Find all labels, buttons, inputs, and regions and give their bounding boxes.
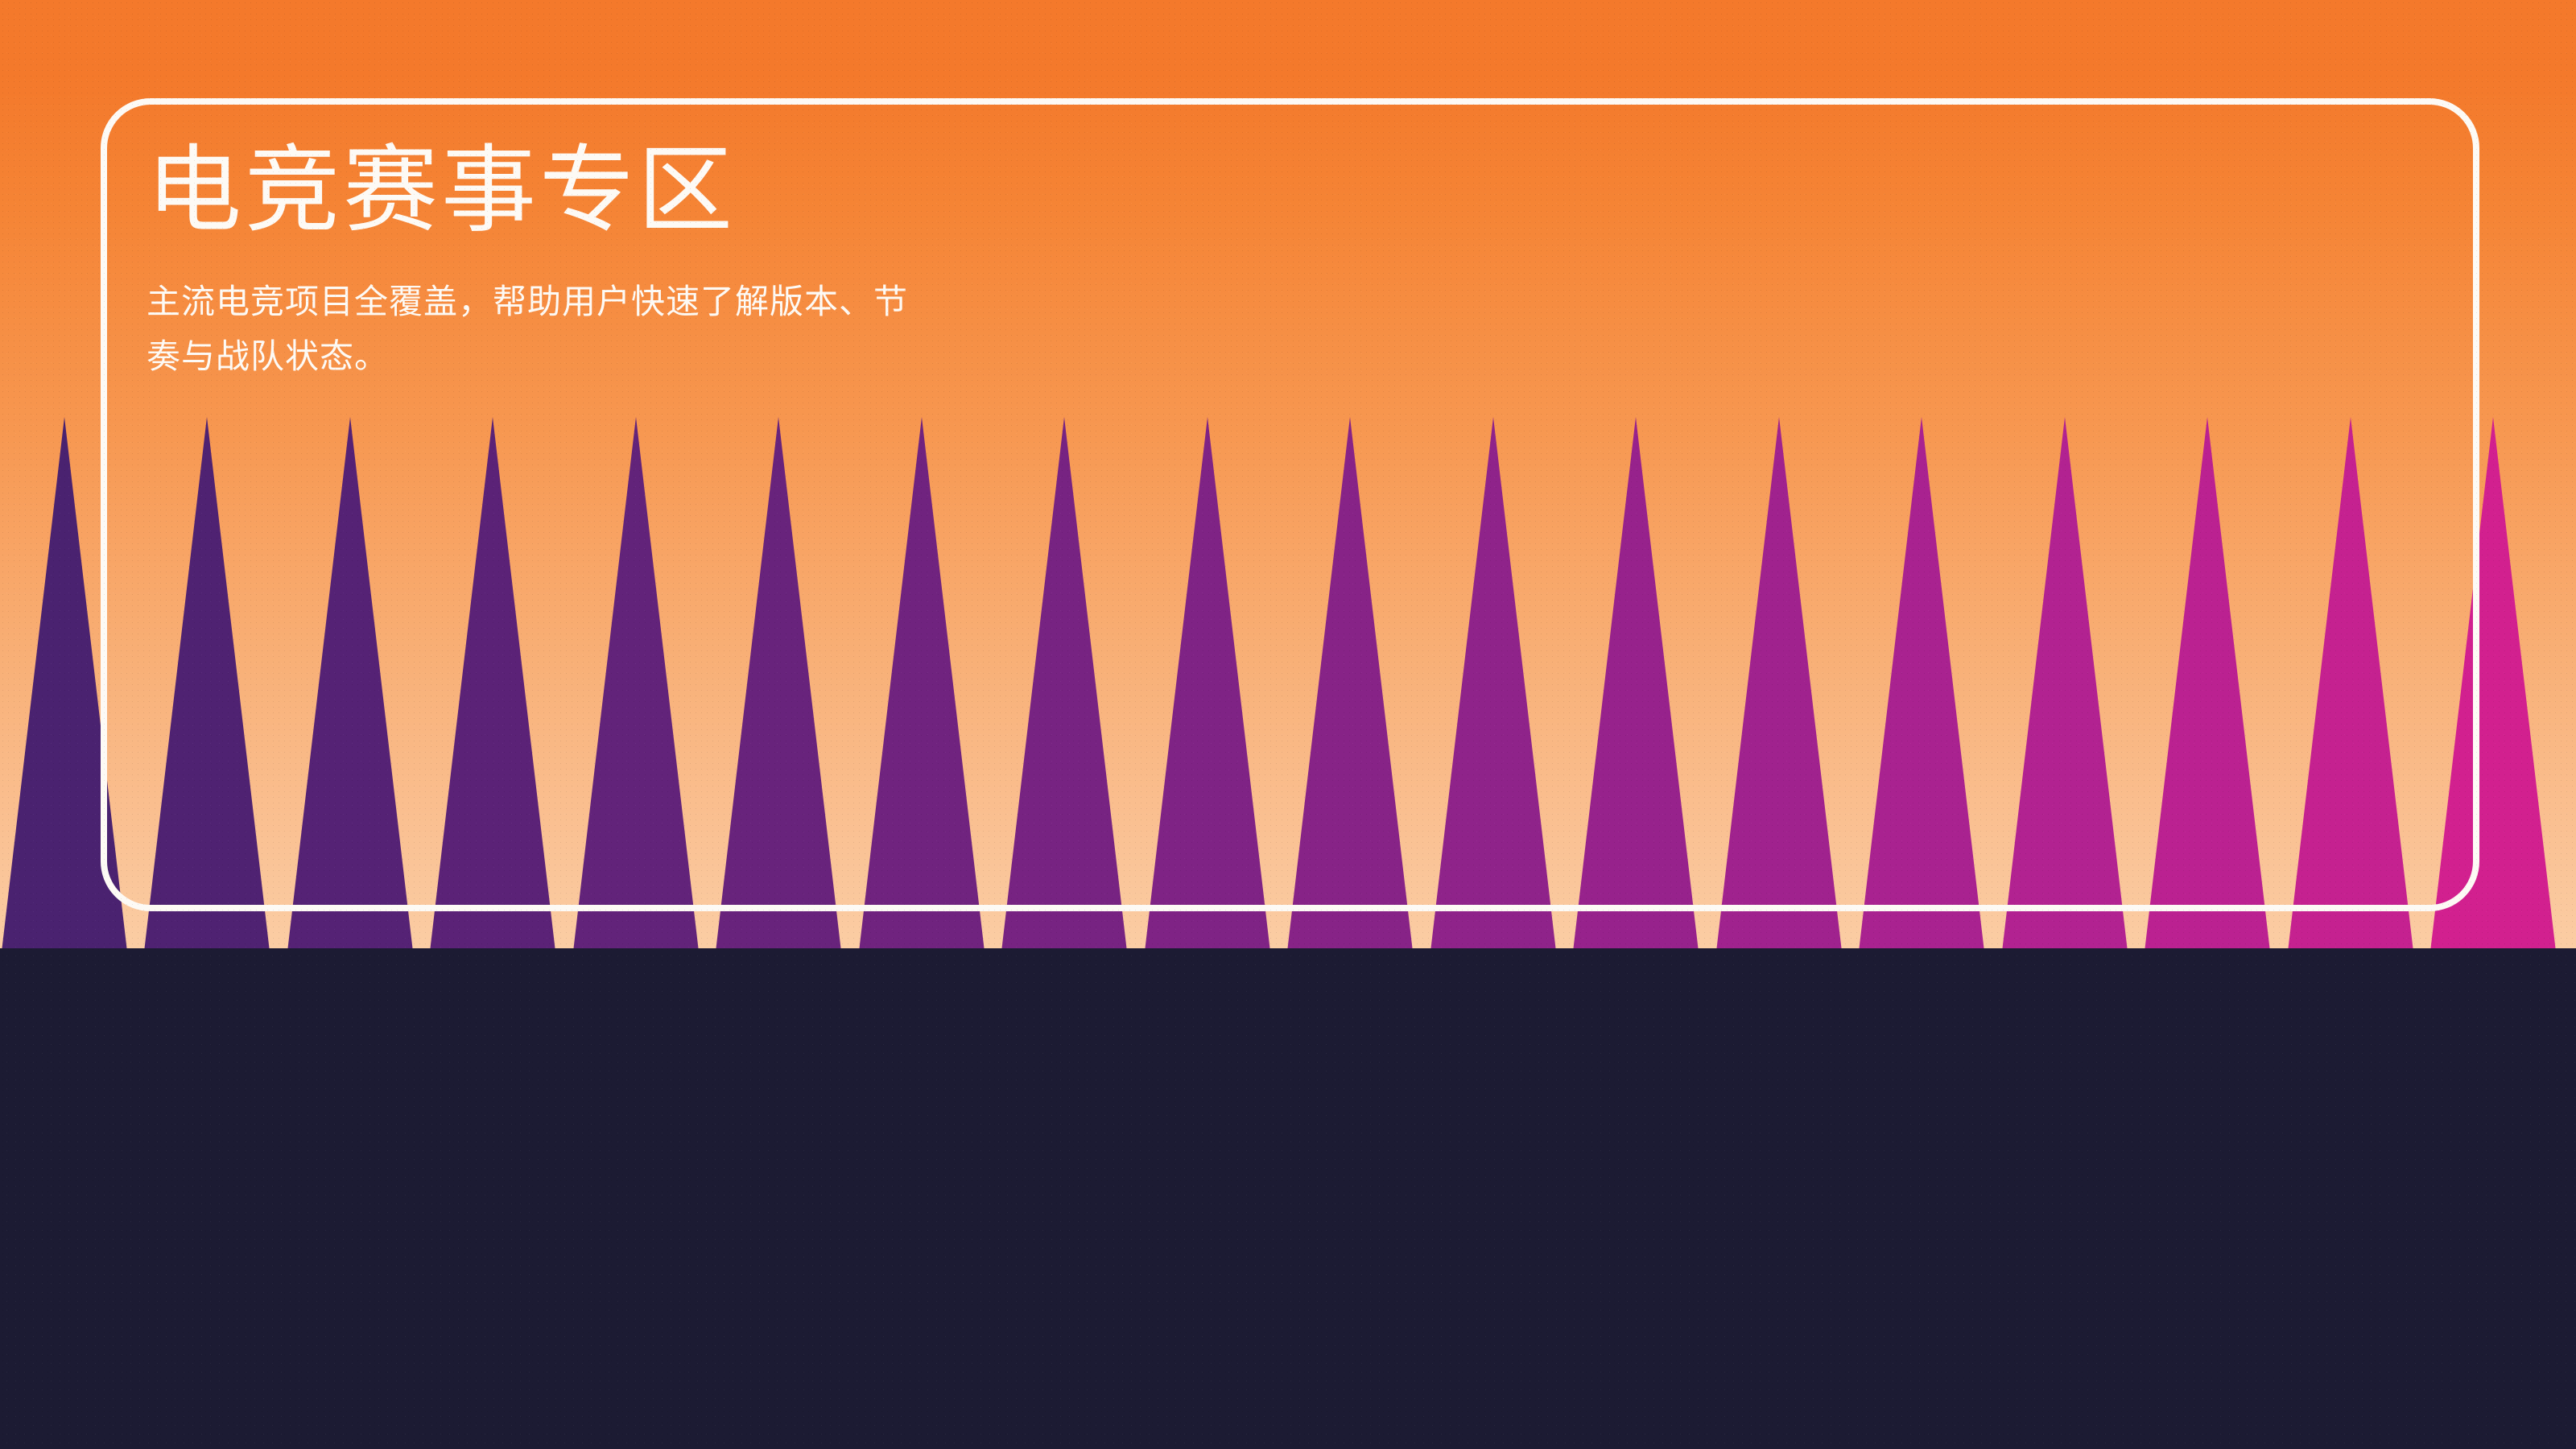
ground-band xyxy=(0,948,2576,1449)
page-subtitle-line: 奏与战队状态。 xyxy=(147,337,389,375)
spike-2 xyxy=(145,417,270,948)
spike-3 xyxy=(288,417,413,948)
spike-group xyxy=(2,417,2556,948)
spike-14 xyxy=(1860,417,1984,948)
spike-13 xyxy=(1717,417,1842,948)
spike-18 xyxy=(2431,417,2556,948)
page-title: 电竞赛事专区 xyxy=(147,135,1290,247)
spike-16 xyxy=(2145,417,2270,948)
hero-text-block: 电竞赛事专区 主流电竞项目全覆盖，帮助用户快速了解版本、节奏与战队状态。 xyxy=(147,135,1290,384)
hero-banner: 电竞赛事专区 主流电竞项目全覆盖，帮助用户快速了解版本、节奏与战队状态。 xyxy=(0,0,2576,1449)
page-subtitle: 主流电竞项目全覆盖，帮助用户快速了解版本、节奏与战队状态。 xyxy=(147,275,1193,384)
spike-4 xyxy=(431,417,555,948)
spike-15 xyxy=(2003,417,2128,948)
spike-11 xyxy=(1431,417,1556,948)
spike-12 xyxy=(1574,417,1699,948)
spike-9 xyxy=(1146,417,1270,948)
spike-5 xyxy=(574,417,699,948)
spike-17 xyxy=(2289,417,2413,948)
spike-6 xyxy=(716,417,841,948)
spike-1 xyxy=(2,417,127,948)
spike-8 xyxy=(1002,417,1127,948)
spike-10 xyxy=(1288,417,1413,948)
spike-7 xyxy=(860,417,985,948)
page-subtitle-line: 主流电竞项目全覆盖，帮助用户快速了解版本、节 xyxy=(147,283,908,320)
